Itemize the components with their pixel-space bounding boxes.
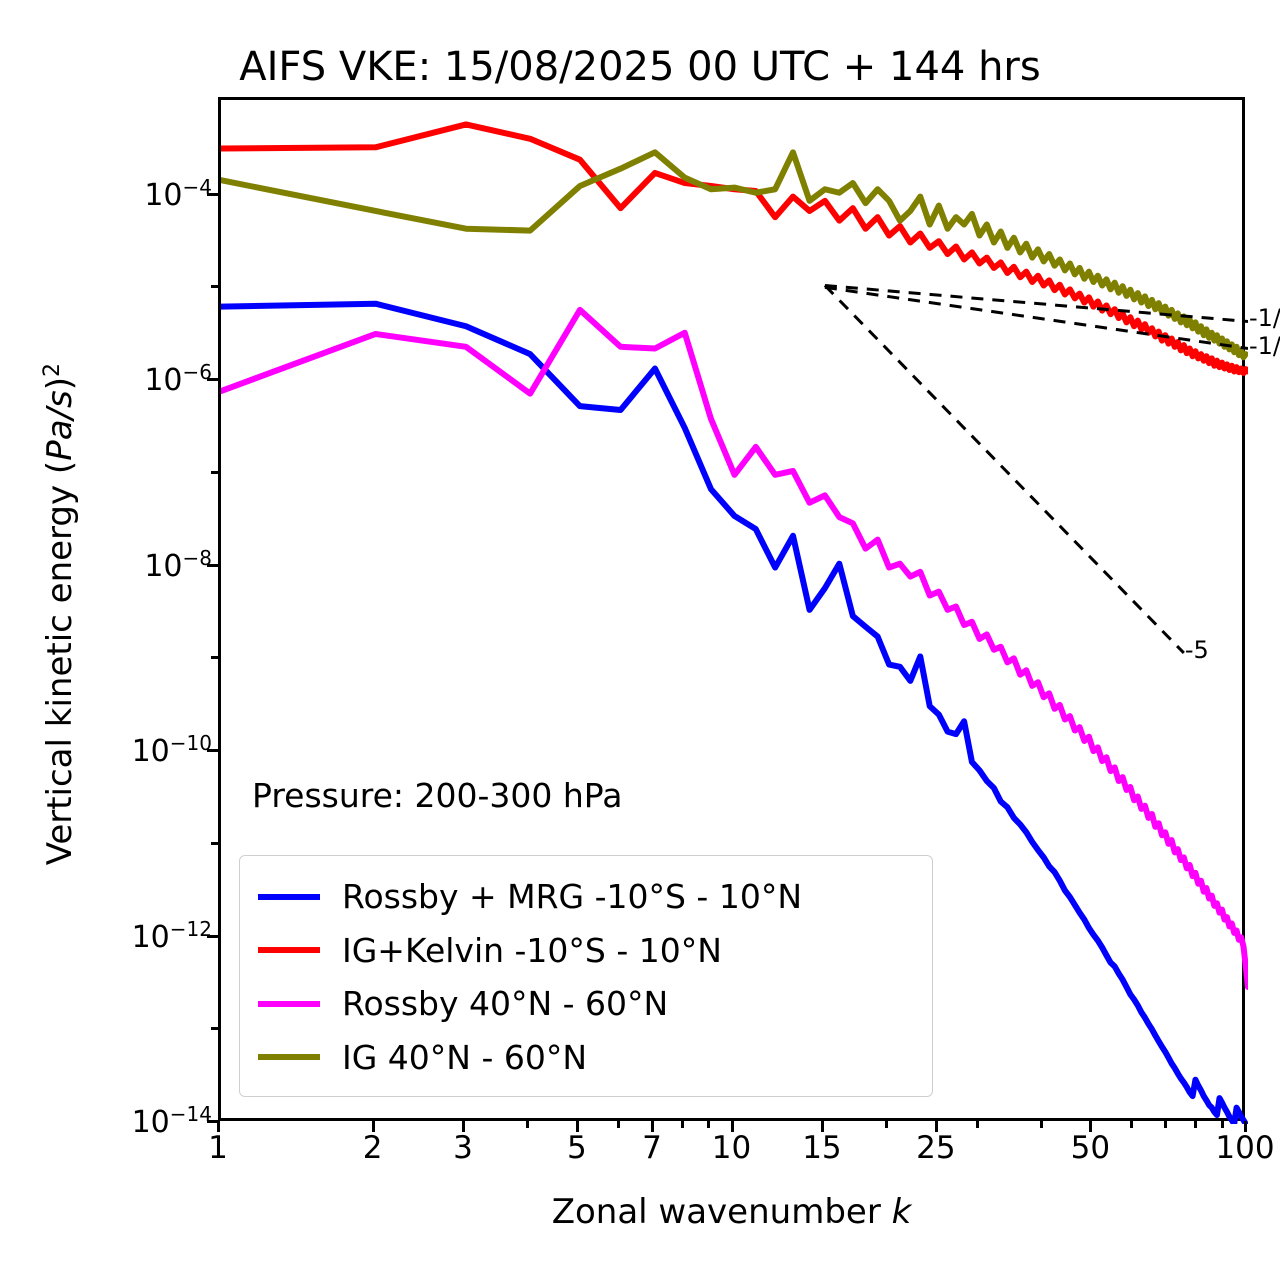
x-tick-label-6: 15 [802, 1130, 841, 1166]
legend-label-2: Rossby 40°N - 60°N [342, 987, 668, 1020]
y-minor-tick-4 [211, 285, 218, 288]
x-tick-mark-6 [821, 1121, 824, 1132]
x-tick-mark-0 [217, 1121, 220, 1132]
x-tick-label-5: 10 [712, 1130, 751, 1166]
legend-swatch-3 [258, 1054, 320, 1060]
y-minor-tick-3 [211, 471, 218, 474]
legend-item-3[interactable]: IG 40°N - 60°N [258, 1031, 914, 1083]
slope-label-1: -1/3 [1249, 332, 1280, 360]
y-tick-label-3: 10−8 [144, 546, 212, 584]
x-axis-label-symbol: k [892, 1192, 912, 1232]
page-title: AIFS VKE: 15/08/2025 00 UTC + 144 hrs [0, 44, 1280, 90]
x-tick-mark-7 [935, 1121, 938, 1132]
x-tick-label-9: 100 [1215, 1130, 1274, 1166]
x-minor-tick-3 [707, 1121, 710, 1128]
x-tick-label-1: 2 [363, 1130, 383, 1166]
x-minor-tick-4 [885, 1121, 888, 1128]
legend-swatch-1 [258, 947, 320, 953]
y-tick-mark-2 [207, 749, 218, 752]
x-tick-label-3: 5 [567, 1130, 587, 1166]
chart-figure: AIFS VKE: 15/08/2025 00 UTC + 144 hrs Ve… [0, 0, 1280, 1288]
y-tick-label-0: 10−14 [132, 1102, 212, 1140]
pressure-annotation: Pressure: 200-300 hPa [252, 776, 622, 815]
series-line-3 [221, 152, 1246, 357]
x-tick-mark-9 [1244, 1121, 1247, 1132]
y-minor-tick-1 [211, 842, 218, 845]
y-minor-tick-2 [211, 656, 218, 659]
y-axis-label-exponent: 2 [40, 363, 65, 377]
x-minor-tick-7 [1130, 1121, 1133, 1128]
y-tick-label-2: 10−10 [132, 731, 212, 769]
reference-line-2 [825, 285, 1184, 652]
x-tick-label-4: 7 [642, 1130, 662, 1166]
y-tick-mark-4 [207, 378, 218, 381]
x-tick-label-8: 50 [1071, 1130, 1110, 1166]
y-minor-tick-0 [211, 1027, 218, 1030]
legend-item-1[interactable]: IG+Kelvin -10°S - 10°N [258, 924, 914, 976]
x-tick-label-2: 3 [453, 1130, 473, 1166]
x-minor-tick-2 [681, 1121, 684, 1128]
x-tick-label-0: 1 [208, 1130, 228, 1166]
x-axis-label: Zonal wavenumber k [218, 1192, 1245, 1232]
y-minor-tick-5 [211, 193, 218, 196]
y-tick-label-4: 10−6 [144, 360, 212, 398]
x-tick-mark-4 [651, 1121, 654, 1132]
x-minor-tick-10 [1221, 1121, 1224, 1128]
y-tick-mark-3 [207, 564, 218, 567]
reference-line-0 [825, 285, 1248, 321]
legend-item-2[interactable]: Rossby 40°N - 60°N [258, 978, 914, 1030]
legend-item-0[interactable]: Rossby + MRG -10°S - 10°N [258, 871, 914, 923]
legend-label-0: Rossby + MRG -10°S - 10°N [342, 880, 802, 913]
y-tick-label-1: 10−12 [132, 917, 212, 955]
x-tick-mark-3 [576, 1121, 579, 1132]
y-axis-label-suffix: ) [40, 377, 80, 390]
legend-label-1: IG+Kelvin -10°S - 10°N [342, 934, 722, 967]
y-axis-label: Vertical kinetic energy (Pa/s)2 [40, 264, 80, 964]
reference-line-group [825, 285, 1248, 652]
y-tick-label-5: 10−4 [144, 175, 212, 213]
y-axis-label-unit: Pa/s [40, 390, 80, 461]
x-minor-tick-1 [617, 1121, 620, 1128]
x-minor-tick-5 [976, 1121, 979, 1128]
x-axis-label-prefix: Zonal wavenumber [552, 1192, 892, 1232]
x-minor-tick-0 [526, 1121, 529, 1128]
x-tick-mark-8 [1089, 1121, 1092, 1132]
x-tick-mark-2 [462, 1121, 465, 1132]
y-axis-label-prefix: Vertical kinetic energy ( [40, 461, 80, 866]
x-minor-tick-6 [1040, 1121, 1043, 1128]
legend: Rossby + MRG -10°S - 10°NIG+Kelvin -10°S… [239, 855, 933, 1097]
slope-label-2: -5 [1185, 636, 1209, 664]
legend-swatch-0 [258, 894, 320, 900]
x-minor-tick-8 [1164, 1121, 1167, 1128]
legend-label-3: IG 40°N - 60°N [342, 1041, 587, 1074]
y-tick-mark-1 [207, 935, 218, 938]
x-tick-mark-5 [731, 1121, 734, 1132]
legend-swatch-2 [258, 1001, 320, 1007]
x-tick-mark-1 [372, 1121, 375, 1132]
x-tick-label-7: 25 [916, 1130, 955, 1166]
slope-label-0: -1/3 [1249, 304, 1280, 332]
x-minor-tick-9 [1194, 1121, 1197, 1128]
